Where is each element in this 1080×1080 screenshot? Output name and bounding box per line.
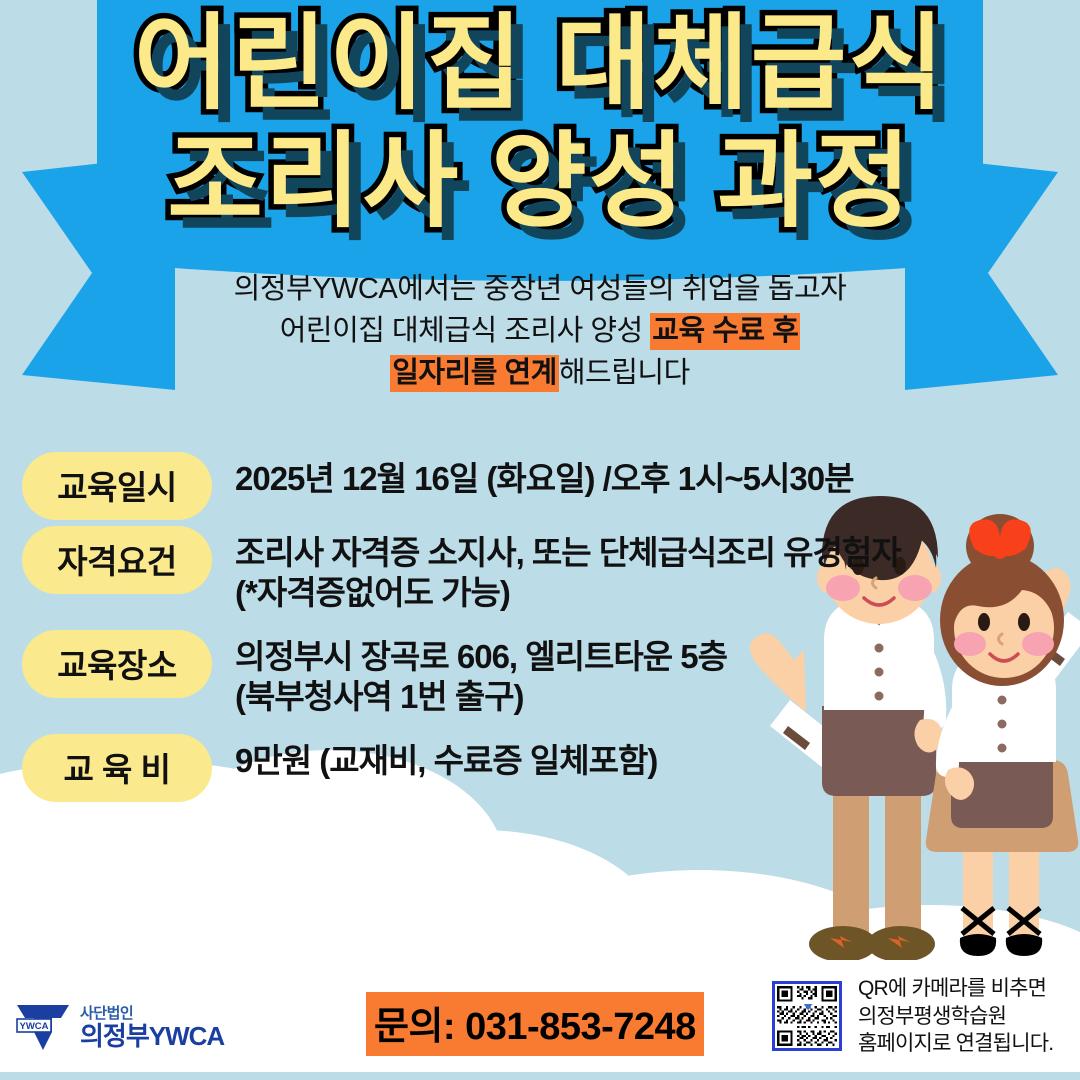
title-line-1: 어린이집 대체급식: [0, 12, 1080, 116]
contact-phone[interactable]: 문의: 031-853-7248: [366, 992, 704, 1056]
subtitle-line-3: 일자리를 연계해드립니다: [0, 352, 1080, 394]
info-row-fee: 교 육 비 9만원 (교재비, 수료증 일체포함): [22, 734, 1062, 802]
info-row-schedule: 교육일시 2025년 12월 16일 (화요일) /오후 1시~5시30분: [22, 452, 1062, 520]
subtitle-highlight-1: 교육 수료 후: [650, 313, 800, 350]
qr-instructions: QR에 카메라를 비추면 의정부평생학습원 홈페이지로 연결됩니다.: [858, 975, 1053, 1058]
ywca-logo-words: 사단법인 의정부YWCA: [80, 1006, 224, 1050]
ywca-emblem-icon: YWCA: [14, 1002, 72, 1054]
title-line-2: 조리사 양성 과정: [0, 130, 1080, 234]
subtitle-highlight-2: 일자리를 연계: [390, 355, 559, 392]
info-label-location: 교육장소: [22, 630, 212, 698]
info-label-fee: 교 육 비: [22, 734, 212, 802]
qr-code-icon[interactable]: [772, 981, 842, 1051]
info-row-location: 교육장소 의정부시 장곡로 606, 엘리트타운 5층 (북부청사역 1번 출구…: [22, 630, 1062, 718]
svg-text:YWCA: YWCA: [19, 1021, 48, 1032]
qr-section: QR에 카메라를 비추면 의정부평생학습원 홈페이지로 연결됩니다.: [772, 975, 1053, 1058]
ywca-logo-mark: YWCA: [14, 1002, 72, 1054]
info-label-requirements: 자격요건: [22, 526, 212, 594]
ywca-logo-line1: 사단법인: [80, 1006, 224, 1022]
ywca-logo: YWCA 사단법인 의정부YWCA: [14, 1002, 224, 1054]
qr-text-line2: 의정부평생학습원: [858, 1003, 1053, 1031]
info-row-requirements: 자격요건 조리사 자격증 소지사, 또는 단체급식조리 유경험자 (*자격증없어…: [22, 526, 1062, 614]
qr-text-line3: 홈페이지로 연결됩니다.: [858, 1030, 1053, 1058]
poster-canvas: 어린이집 대체급식 조리사 양성 과정 의정부YWCA에서는 중장년 여성들의 …: [0, 0, 1080, 1080]
subtitle-line-1: 의정부YWCA에서는 중장년 여성들의 취업을 돕고자: [0, 268, 1080, 310]
info-value-fee: 9만원 (교재비, 수료증 일체포함): [235, 734, 1062, 781]
info-value-location: 의정부시 장곡로 606, 엘리트타운 5층 (북부청사역 1번 출구): [235, 630, 1062, 718]
poster-title: 어린이집 대체급식 조리사 양성 과정: [0, 12, 1080, 234]
info-value-schedule: 2025년 12월 16일 (화요일) /오후 1시~5시30분: [235, 452, 1062, 499]
info-value-requirements: 조리사 자격증 소지사, 또는 단체급식조리 유경험자 (*자격증없어도 가능): [235, 526, 1062, 614]
ywca-logo-line2: 의정부YWCA: [80, 1023, 224, 1050]
subtitle-line-2: 어린이집 대체급식 조리사 양성 교육 수료 후: [0, 310, 1080, 352]
info-label-schedule: 교육일시: [22, 452, 212, 520]
qr-code-matrix: [775, 984, 839, 1048]
qr-text-line1: QR에 카메라를 비추면: [858, 975, 1053, 1003]
bottom-strip: [0, 1072, 1080, 1080]
poster-subtitle: 의정부YWCA에서는 중장년 여성들의 취업을 돕고자 어린이집 대체급식 조리…: [0, 268, 1080, 394]
